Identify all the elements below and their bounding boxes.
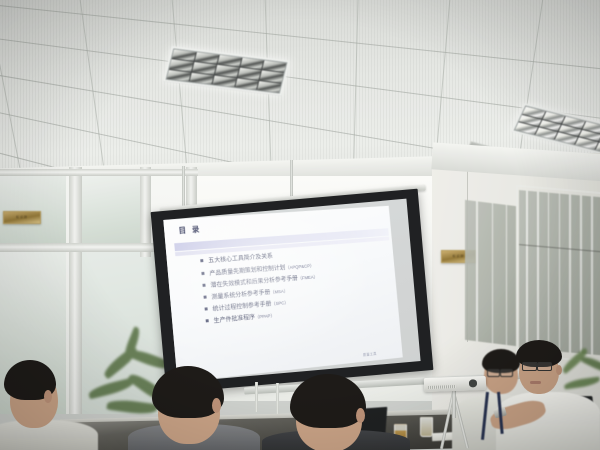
projection-screen[interactable]: 目 录 五大核心工具简介及关系 产品质量先期策划和控制计划 （APQP&CP） [151, 189, 434, 394]
bullet-marker-icon [202, 272, 205, 275]
wall-plaque-left-text: 标识牌 [4, 212, 40, 224]
bullet-text: 统计过程控制参考手册 [212, 302, 271, 314]
tripod-center-column [452, 388, 456, 418]
bullet-abbr: （PPAP） [255, 313, 275, 321]
bullet-marker-icon [203, 284, 206, 287]
wall-plaque-left: 标识牌 [3, 211, 41, 225]
screen-hanger-bracket [182, 166, 185, 208]
bullet-abbr: （SPC） [271, 300, 289, 307]
ear [212, 398, 221, 413]
right-window [519, 190, 600, 355]
screen-stand-post [255, 382, 258, 412]
screen-stand-post [276, 383, 279, 415]
seated-attendee-body [0, 420, 98, 450]
projector[interactable] [424, 376, 486, 392]
projector-vent [428, 385, 457, 389]
eyeglasses-bridge [535, 362, 537, 363]
bullet-text: 产品质量先期策划和控制计划 [209, 265, 285, 278]
slide-title: 目 录 [178, 223, 201, 235]
slide-bullet-list: 五大核心工具简介及关系 产品质量先期策划和控制计划 （APQP&CP） 潜在失效… [200, 246, 392, 332]
bullet-marker-icon [200, 259, 203, 262]
screen-surface: 目 录 五大核心工具简介及关系 产品质量先期策划和控制计划 （APQP&CP） [163, 199, 420, 383]
partition-head-rail [0, 169, 198, 176]
bullet-marker-icon [206, 320, 209, 323]
bullet-text: 测量系统分析参考手册 [211, 290, 270, 302]
ear [556, 365, 562, 375]
bullet-text: 生产件批准程序 [214, 315, 256, 326]
eyeglasses [500, 369, 513, 377]
eyeglasses [537, 362, 552, 371]
bullet-abbr: （APQP&CP） [285, 263, 314, 271]
right-window-secondary [465, 199, 516, 345]
slide-footer: 质量工具 [363, 351, 377, 357]
eyeglasses [522, 362, 537, 371]
bullet-marker-icon [204, 296, 207, 299]
bullet-marker-icon [205, 308, 208, 311]
bullet-text: 五大核心工具简介及关系 [208, 254, 273, 266]
partition-glass-panel [0, 176, 66, 244]
projector-lens [468, 380, 477, 388]
ear [356, 408, 365, 423]
meeting-room-photo: 标识牌 标识牌 目 录 [0, 0, 600, 450]
bullet-abbr: （FMEA） [298, 274, 319, 281]
eyeglasses [487, 369, 500, 377]
partition-glass-panel [81, 176, 141, 244]
ear [44, 390, 52, 403]
presentation-slide: 目 录 五大核心工具简介及关系 产品质量先期策划和控制计划 （APQP&CP） [163, 206, 402, 382]
bullet-abbr: （MSA） [270, 288, 288, 295]
mouth [530, 381, 541, 384]
